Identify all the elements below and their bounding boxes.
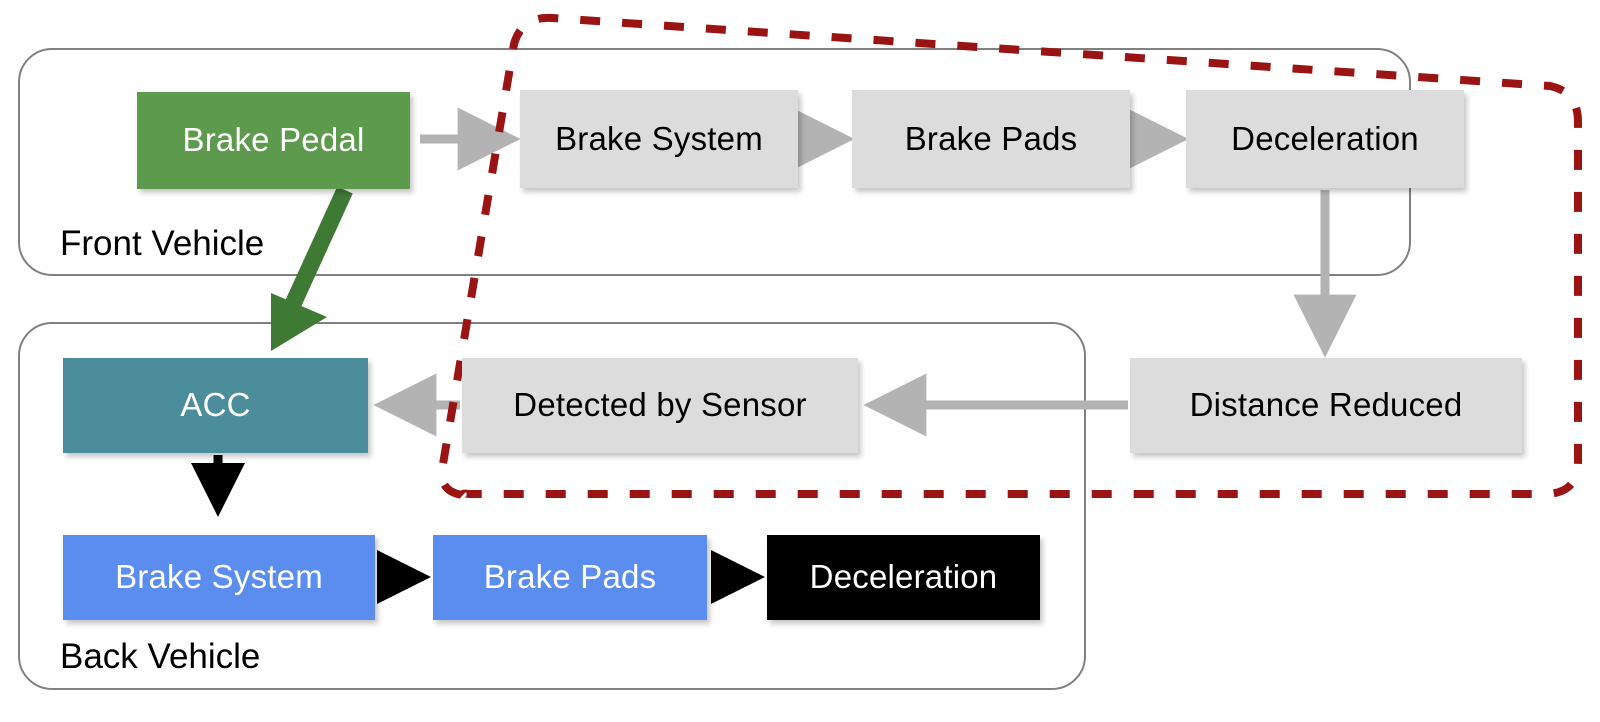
- node-brake-system-front[interactable]: Brake System: [520, 90, 798, 188]
- node-brake-system-back[interactable]: Brake System: [63, 535, 375, 620]
- node-label: Brake System: [555, 121, 763, 157]
- node-label: Distance Reduced: [1190, 387, 1463, 423]
- group-label-front-vehicle: Front Vehicle: [60, 224, 264, 264]
- node-label: Detected by Sensor: [513, 387, 806, 423]
- node-brake-pedal-front[interactable]: Brake Pedal: [137, 92, 410, 189]
- node-label: Deceleration: [1231, 121, 1419, 157]
- node-acc[interactable]: ACC: [63, 358, 368, 453]
- node-label: Deceleration: [810, 559, 998, 595]
- node-label: ACC: [180, 387, 250, 423]
- node-label: Brake System: [115, 559, 323, 595]
- node-detected-by-sensor[interactable]: Detected by Sensor: [462, 358, 858, 453]
- diagram-canvas: Brake Pedal Brake System Brake Pads Dece…: [0, 0, 1600, 722]
- node-label: Brake Pads: [484, 559, 657, 595]
- node-label: Brake Pads: [905, 121, 1078, 157]
- node-brake-pads-front[interactable]: Brake Pads: [852, 90, 1130, 188]
- node-label: Brake Pedal: [183, 122, 365, 158]
- group-label-back-vehicle: Back Vehicle: [60, 637, 260, 677]
- node-deceleration-front[interactable]: Deceleration: [1186, 90, 1464, 188]
- node-brake-pads-back[interactable]: Brake Pads: [433, 535, 707, 620]
- node-deceleration-back[interactable]: Deceleration: [767, 535, 1040, 620]
- node-distance-reduced[interactable]: Distance Reduced: [1130, 358, 1522, 453]
